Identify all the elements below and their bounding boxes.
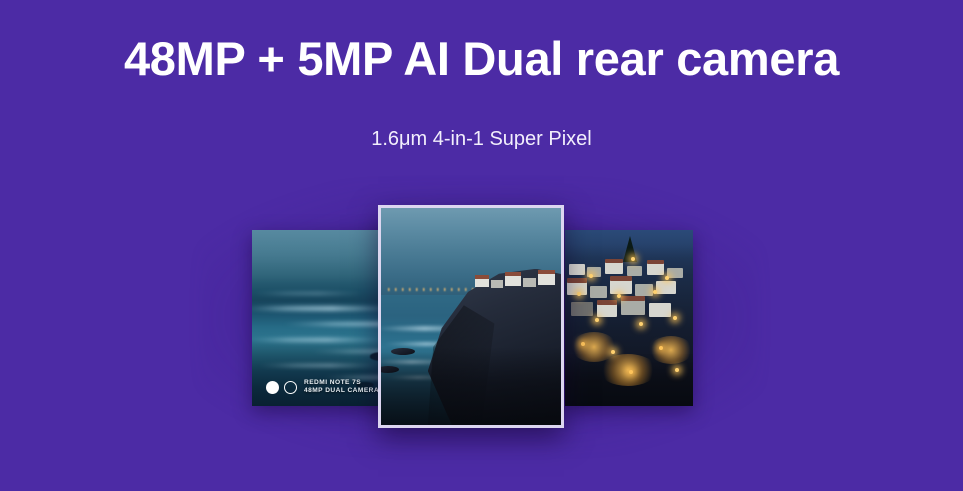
house-shape bbox=[571, 302, 593, 316]
circle-filled-icon bbox=[266, 381, 279, 394]
page-title: 48MP + 5MP AI Dual rear camera bbox=[0, 30, 963, 88]
clifftop-village bbox=[471, 264, 561, 294]
roof-shape bbox=[567, 278, 587, 283]
watermark-dots bbox=[266, 381, 297, 394]
roof-shape bbox=[605, 259, 623, 263]
street-lamp-icon bbox=[631, 257, 635, 261]
photo-gallery: REDMI NOTE 7S 48MP DUAL CAMERA bbox=[0, 150, 963, 450]
house-shape bbox=[475, 278, 489, 287]
watermark-text: REDMI NOTE 7S 48MP DUAL CAMERA bbox=[304, 379, 379, 396]
house-shape bbox=[590, 286, 607, 298]
cliff-vignette bbox=[381, 347, 561, 425]
house-shape bbox=[635, 284, 653, 296]
roof-shape bbox=[538, 270, 555, 274]
roof-shape bbox=[610, 276, 632, 281]
house-shape bbox=[605, 262, 623, 274]
gallery-photo-center[interactable] bbox=[378, 205, 564, 428]
street-lamp-icon bbox=[617, 294, 621, 298]
street-lamp-icon bbox=[589, 274, 593, 278]
roof-shape bbox=[597, 300, 617, 305]
house-shape bbox=[491, 280, 503, 288]
house-shape bbox=[505, 275, 521, 286]
camera-watermark: REDMI NOTE 7S 48MP DUAL CAMERA bbox=[266, 379, 379, 396]
roof-shape bbox=[505, 272, 521, 276]
house-shape bbox=[523, 278, 536, 287]
roof-shape bbox=[475, 275, 489, 279]
house-shape bbox=[610, 280, 632, 294]
house-shape bbox=[621, 300, 645, 315]
roof-shape bbox=[647, 260, 664, 264]
cliff-image bbox=[381, 208, 561, 425]
street-lamp-icon bbox=[639, 322, 643, 326]
house-shape bbox=[647, 263, 664, 275]
roof-shape bbox=[621, 296, 645, 301]
street-lamp-icon bbox=[595, 318, 599, 322]
page-subtitle: 1.6μm 4-in-1 Super Pixel bbox=[0, 125, 963, 153]
light-glow bbox=[649, 336, 693, 364]
street-lamp-icon bbox=[577, 292, 581, 296]
street-lamp-icon bbox=[653, 290, 657, 294]
house-shape bbox=[667, 268, 683, 278]
street-lamp-icon bbox=[665, 276, 669, 280]
house-shape bbox=[569, 264, 585, 275]
light-glow bbox=[599, 354, 657, 386]
circle-outline-icon bbox=[284, 381, 297, 394]
house-shape bbox=[649, 303, 671, 317]
house-shape bbox=[538, 273, 555, 285]
house-shape bbox=[597, 304, 617, 317]
house-shape bbox=[627, 266, 642, 276]
watermark-line-2: 48MP DUAL CAMERA bbox=[304, 387, 379, 396]
house-shape bbox=[656, 281, 676, 294]
gallery-photo-right[interactable] bbox=[565, 230, 693, 406]
street-lamp-icon bbox=[673, 316, 677, 320]
street-lamp-icon bbox=[675, 368, 679, 372]
